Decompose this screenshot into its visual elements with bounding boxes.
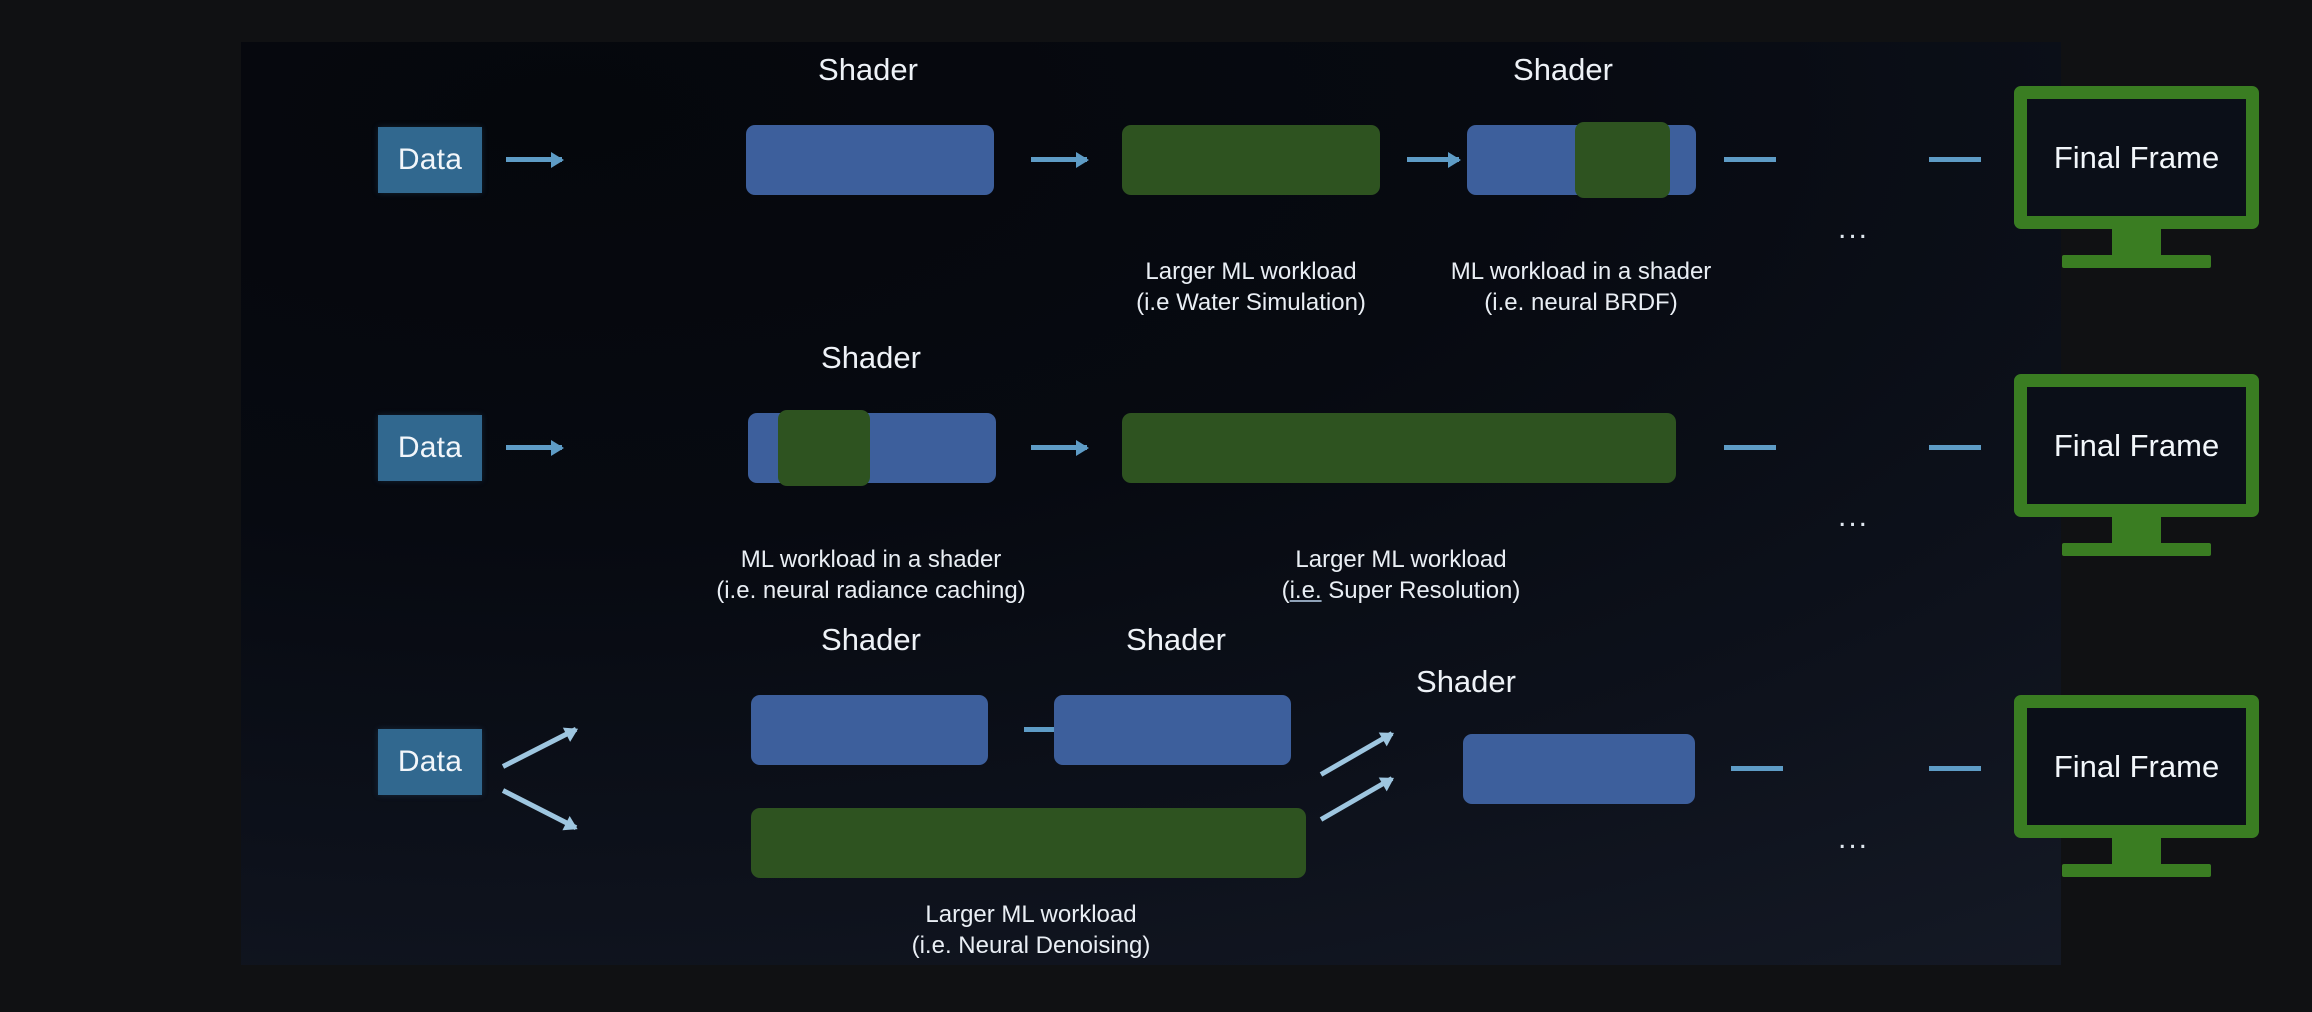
caption-line-1: ML workload in a shader	[661, 545, 1081, 576]
arrow-right-icon	[1407, 157, 1459, 162]
monitor-neck	[2112, 838, 2161, 864]
final-frame-label: Final Frame	[2054, 749, 2219, 785]
ml-in-shader-chunk-row2[interactable]	[778, 410, 870, 486]
larger-ml-workload-bar-row3[interactable]	[751, 808, 1306, 878]
branch-arrow-down-icon	[502, 788, 577, 830]
caption-line-2: (i.e. neural BRDF)	[1386, 288, 1776, 319]
monitor-icon-row1[interactable]: Final Frame	[2014, 86, 2259, 268]
connector-dash	[1731, 766, 1783, 771]
caption-line-1: Larger ML workload	[1241, 545, 1561, 576]
pipeline-row-2: Data Shader ML workload in a shader (i.e…	[241, 330, 2061, 630]
ellipsis-row1: ...	[1838, 214, 1869, 244]
screenshot-stage: Data Shader Larger ML workload (i.e Wate…	[0, 0, 2312, 1012]
shader-label-row1-2: Shader	[1383, 52, 1743, 88]
final-frame-label: Final Frame	[2054, 428, 2219, 464]
shader-bar-row1-2[interactable]	[1467, 125, 1696, 195]
ml-in-shader-chunk-row1[interactable]	[1575, 122, 1670, 198]
shader-bar-row3-1[interactable]	[751, 695, 988, 765]
arrow-right-icon	[1031, 445, 1087, 450]
branch-arrow-up-icon	[502, 727, 577, 769]
monitor-foot	[2062, 255, 2211, 268]
caption-larger-ml-workload-row3: Larger ML workload (i.e. Neural Denoisin…	[881, 900, 1181, 961]
shader-bar-row3-3[interactable]	[1463, 734, 1695, 804]
shader-bar-row1-1[interactable]	[746, 125, 994, 195]
arrow-right-icon	[506, 157, 562, 162]
caption-line-2: (i.e Water Simulation)	[1101, 288, 1401, 319]
final-frame-screen: Final Frame	[2014, 695, 2259, 838]
slide-canvas: Data Shader Larger ML workload (i.e Wate…	[241, 42, 2061, 965]
data-box-row2[interactable]: Data	[378, 415, 482, 481]
shader-label-row1-1: Shader	[738, 52, 998, 88]
caption-ml-in-shader-row2: ML workload in a shader (i.e. neural rad…	[661, 545, 1081, 606]
caption-line-1: ML workload in a shader	[1386, 257, 1776, 288]
ml-workload-bar-row1[interactable]	[1122, 125, 1380, 195]
monitor-foot	[2062, 543, 2211, 556]
larger-ml-workload-bar-row2[interactable]	[1122, 413, 1676, 483]
shader-label-row2-1: Shader	[741, 340, 1001, 376]
ellipsis-row2: ...	[1838, 502, 1869, 532]
caption-larger-ml-workload-row2: Larger ML workload (i.e. Super Resolutio…	[1241, 545, 1561, 606]
pipeline-row-3: Data Shader Shader Larger ML workload (i…	[241, 612, 2061, 972]
caption-larger-ml-workload-row1: Larger ML workload (i.e Water Simulation…	[1101, 257, 1401, 318]
monitor-icon-row3[interactable]: Final Frame	[2014, 695, 2259, 877]
arrow-right-icon	[1031, 157, 1087, 162]
shader-bar-row2-1[interactable]	[748, 413, 996, 483]
connector-dash	[1929, 157, 1981, 162]
monitor-icon-row2[interactable]: Final Frame	[2014, 374, 2259, 556]
caption-line-2: (i.e. Super Resolution)	[1241, 576, 1561, 607]
final-frame-screen: Final Frame	[2014, 86, 2259, 229]
shader-label-row3-1: Shader	[741, 622, 1001, 658]
arrow-right-icon	[506, 445, 562, 450]
caption-line-2: (i.e. Neural Denoising)	[881, 931, 1181, 962]
merge-arrow-up-icon	[1320, 731, 1394, 776]
caption-ml-in-shader-row1: ML workload in a shader (i.e. neural BRD…	[1386, 257, 1776, 318]
data-box-label: Data	[398, 745, 462, 779]
caption-line-2: (i.e. neural radiance caching)	[661, 576, 1081, 607]
monitor-neck	[2112, 517, 2161, 543]
caption-line-1: Larger ML workload	[1101, 257, 1401, 288]
shader-label-row3-2: Shader	[1046, 622, 1306, 658]
final-frame-screen: Final Frame	[2014, 374, 2259, 517]
final-frame-label: Final Frame	[2054, 140, 2219, 176]
data-box-label: Data	[398, 143, 462, 177]
monitor-foot	[2062, 864, 2211, 877]
connector-dash	[1929, 766, 1981, 771]
caption-line-1: Larger ML workload	[881, 900, 1181, 931]
connector-dash	[1929, 445, 1981, 450]
pipeline-row-1: Data Shader Larger ML workload (i.e Wate…	[241, 42, 2061, 342]
shader-label-row3-3: Shader	[1336, 664, 1596, 700]
merge-arrow-down-icon	[1320, 776, 1394, 821]
data-box-row1[interactable]: Data	[378, 127, 482, 193]
data-box-label: Data	[398, 431, 462, 465]
shader-bar-row3-2[interactable]	[1054, 695, 1291, 765]
data-box-row3[interactable]: Data	[378, 729, 482, 795]
connector-dash	[1724, 157, 1776, 162]
connector-dash	[1724, 445, 1776, 450]
monitor-neck	[2112, 229, 2161, 255]
ellipsis-row3: ...	[1838, 824, 1869, 854]
